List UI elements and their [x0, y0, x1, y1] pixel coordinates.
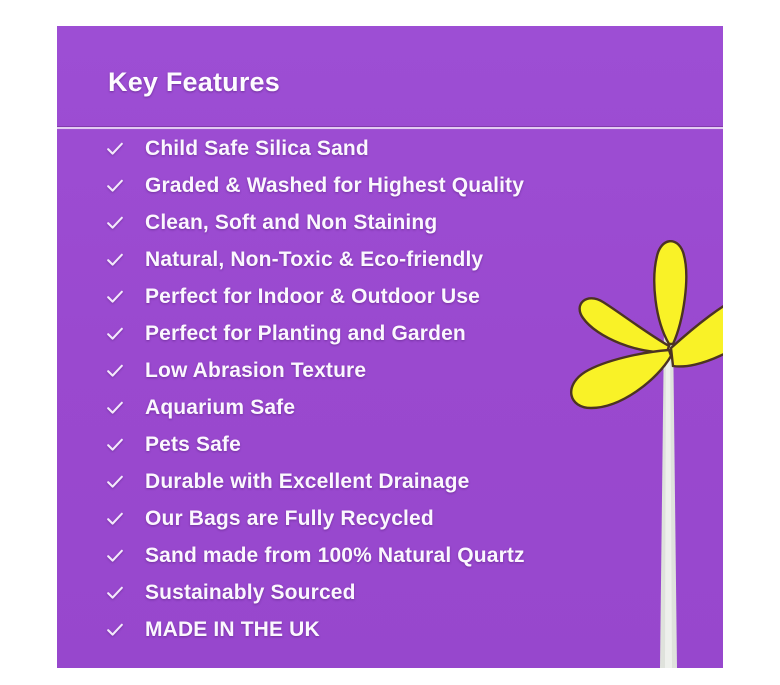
feature-label: Sustainably Sourced	[145, 581, 356, 605]
list-item: MADE IN THE UK	[57, 611, 723, 648]
list-item: Sustainably Sourced	[57, 574, 723, 611]
check-icon	[106, 362, 124, 380]
check-icon	[106, 584, 124, 602]
list-item: Clean, Soft and Non Staining	[57, 204, 723, 241]
list-item: Graded & Washed for Highest Quality	[57, 167, 723, 204]
feature-label: Pets Safe	[145, 433, 241, 457]
check-icon	[106, 436, 124, 454]
screenshot-canvas: Key Features Child Safe Silica Sand Grad…	[0, 0, 780, 685]
feature-label: Child Safe Silica Sand	[145, 137, 369, 161]
feature-label: Low Abrasion Texture	[145, 359, 366, 383]
check-icon	[106, 177, 124, 195]
page-title: Key Features	[108, 67, 280, 98]
list-item: Natural, Non-Toxic & Eco-friendly	[57, 241, 723, 278]
feature-label: MADE IN THE UK	[145, 618, 320, 642]
list-item: Child Safe Silica Sand	[57, 130, 723, 167]
list-item: Aquarium Safe	[57, 389, 723, 426]
list-item: Our Bags are Fully Recycled	[57, 500, 723, 537]
list-item: Perfect for Planting and Garden	[57, 315, 723, 352]
list-item: Sand made from 100% Natural Quartz	[57, 537, 723, 574]
feature-list: Child Safe Silica Sand Graded & Washed f…	[57, 130, 723, 648]
panel-header: Key Features	[57, 26, 723, 126]
list-item: Low Abrasion Texture	[57, 352, 723, 389]
check-icon	[106, 510, 124, 528]
check-icon	[106, 288, 124, 306]
check-icon	[106, 251, 124, 269]
feature-label: Aquarium Safe	[145, 396, 295, 420]
feature-label: Sand made from 100% Natural Quartz	[145, 544, 525, 568]
list-item: Pets Safe	[57, 426, 723, 463]
check-icon	[106, 325, 124, 343]
check-icon	[106, 214, 124, 232]
check-icon	[106, 473, 124, 491]
list-item: Durable with Excellent Drainage	[57, 463, 723, 500]
feature-label: Clean, Soft and Non Staining	[145, 211, 437, 235]
feature-label: Our Bags are Fully Recycled	[145, 507, 434, 531]
key-features-panel: Key Features Child Safe Silica Sand Grad…	[57, 26, 723, 668]
list-item: Perfect for Indoor & Outdoor Use	[57, 278, 723, 315]
feature-label: Natural, Non-Toxic & Eco-friendly	[145, 248, 483, 272]
feature-label: Graded & Washed for Highest Quality	[145, 174, 524, 198]
feature-label: Perfect for Planting and Garden	[145, 322, 466, 346]
check-icon	[106, 399, 124, 417]
feature-label: Perfect for Indoor & Outdoor Use	[145, 285, 480, 309]
check-icon	[106, 547, 124, 565]
feature-label: Durable with Excellent Drainage	[145, 470, 469, 494]
check-icon	[106, 621, 124, 639]
check-icon	[106, 140, 124, 158]
